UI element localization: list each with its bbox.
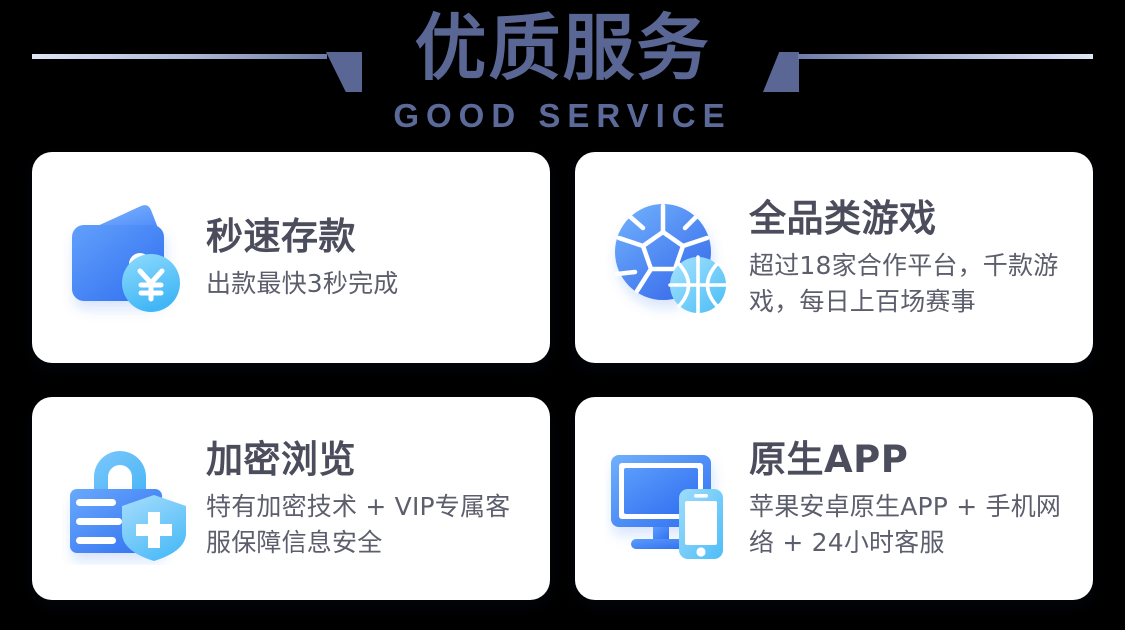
card-subtitle: 苹果安卓原生APP + 手机网络 + 24小时客服 [749,489,1069,561]
lock-shield-icon [62,433,194,565]
monitor-phone-icon [605,433,737,565]
service-card-grid: 秒速存款 出款最快3秒完成 [32,152,1093,600]
service-card-games[interactable]: 全品类游戏 超过18家合作平台，千款游戏，每日上百场赛事 [575,152,1093,363]
service-card-native-app[interactable]: 原生APP 苹果安卓原生APP + 手机网络 + 24小时客服 [575,397,1093,600]
soccer-basketball-icon [605,192,737,324]
card-title: 原生APP [749,437,1069,483]
card-text: 原生APP 苹果安卓原生APP + 手机网络 + 24小时客服 [749,437,1069,561]
card-text: 加密浏览 特有加密技术 + VIP专属客服保障信息安全 [206,437,526,561]
service-card-deposit[interactable]: 秒速存款 出款最快3秒完成 [32,152,550,363]
card-title: 加密浏览 [206,437,526,483]
card-title: 全品类游戏 [749,196,1069,242]
card-title: 秒速存款 [206,214,526,260]
card-subtitle: 特有加密技术 + VIP专属客服保障信息安全 [206,489,526,561]
card-subtitle: 出款最快3秒完成 [206,266,526,302]
service-card-encryption[interactable]: 加密浏览 特有加密技术 + VIP专属客服保障信息安全 [32,397,550,600]
wallet-yen-icon [62,192,194,324]
card-text: 秒速存款 出款最快3秒完成 [206,214,526,302]
card-text: 全品类游戏 超过18家合作平台，千款游戏，每日上百场赛事 [749,196,1069,320]
page-header: 优质服务 GOOD SERVICE [0,0,1125,146]
card-subtitle: 超过18家合作平台，千款游戏，每日上百场赛事 [749,248,1069,320]
page-subtitle: GOOD SERVICE [0,98,1125,134]
page-title: 优质服务 [0,2,1125,94]
